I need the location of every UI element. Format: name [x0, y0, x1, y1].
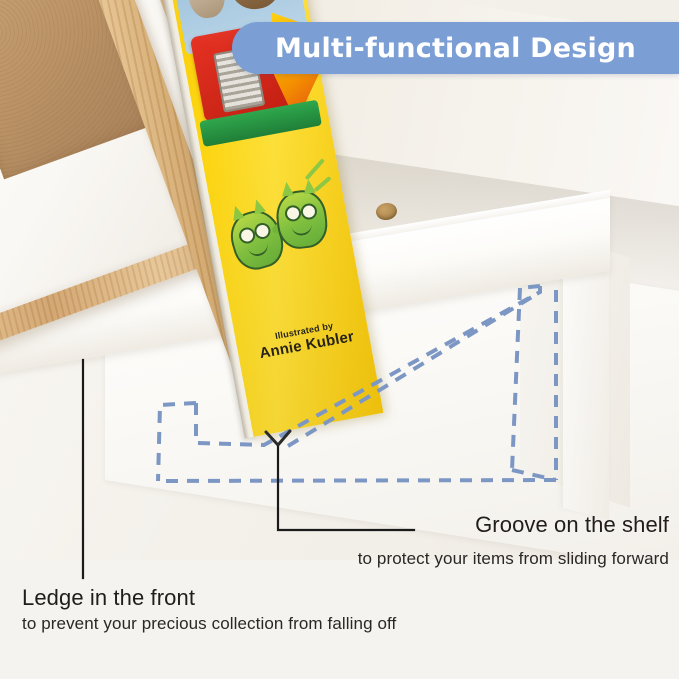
- book-art-green-bumper: [199, 100, 322, 147]
- shelf-right-upright-edge: [563, 253, 609, 519]
- monster-mouth-icon: [248, 242, 270, 258]
- callout-groove-subtitle: to protect your items from sliding forwa…: [269, 549, 669, 570]
- monster-horn-icon: [250, 198, 265, 215]
- feature-banner: Multi-functional Design: [232, 22, 679, 74]
- monster-horn-icon: [280, 181, 294, 196]
- book-credit-prefix: Illustrated by: [245, 315, 363, 348]
- book-art-bear: [224, 0, 285, 13]
- monster-eye-icon: [237, 226, 257, 246]
- book-art-green-monster-left: [225, 205, 289, 275]
- book-art-spark-2: [314, 176, 332, 192]
- book-credit-name: Annie Kubler: [247, 326, 366, 366]
- book-art-green-monster-right: [274, 188, 330, 251]
- callout-groove-title: Groove on the shelf: [427, 512, 669, 538]
- callout-ledge-title: Ledge in the front: [22, 585, 396, 611]
- book-credit: Illustrated by Annie Kubler: [245, 315, 366, 366]
- monster-eye-icon: [300, 203, 318, 221]
- monster-tail-icon: [271, 215, 293, 235]
- monster-eye-icon: [253, 221, 273, 241]
- callout-groove: Groove on the shelf to protect your item…: [427, 512, 669, 538]
- monster-horn-icon: [229, 204, 244, 221]
- feature-banner-label: Multi-functional Design: [275, 33, 636, 64]
- product-feature-image: Illustrated by Annie Kubler: [0, 0, 679, 679]
- monster-mouth-icon: [291, 223, 312, 236]
- monster-eye-icon: [284, 205, 302, 223]
- callout-ledge: Ledge in the front to prevent your preci…: [22, 585, 396, 635]
- product-photo: Illustrated by Annie Kubler: [0, 0, 679, 560]
- book-art-rabbit: [184, 0, 228, 21]
- book-art-spark-1: [305, 158, 325, 180]
- monster-horn-icon: [302, 179, 316, 194]
- callout-ledge-subtitle: to prevent your precious collection from…: [22, 614, 396, 635]
